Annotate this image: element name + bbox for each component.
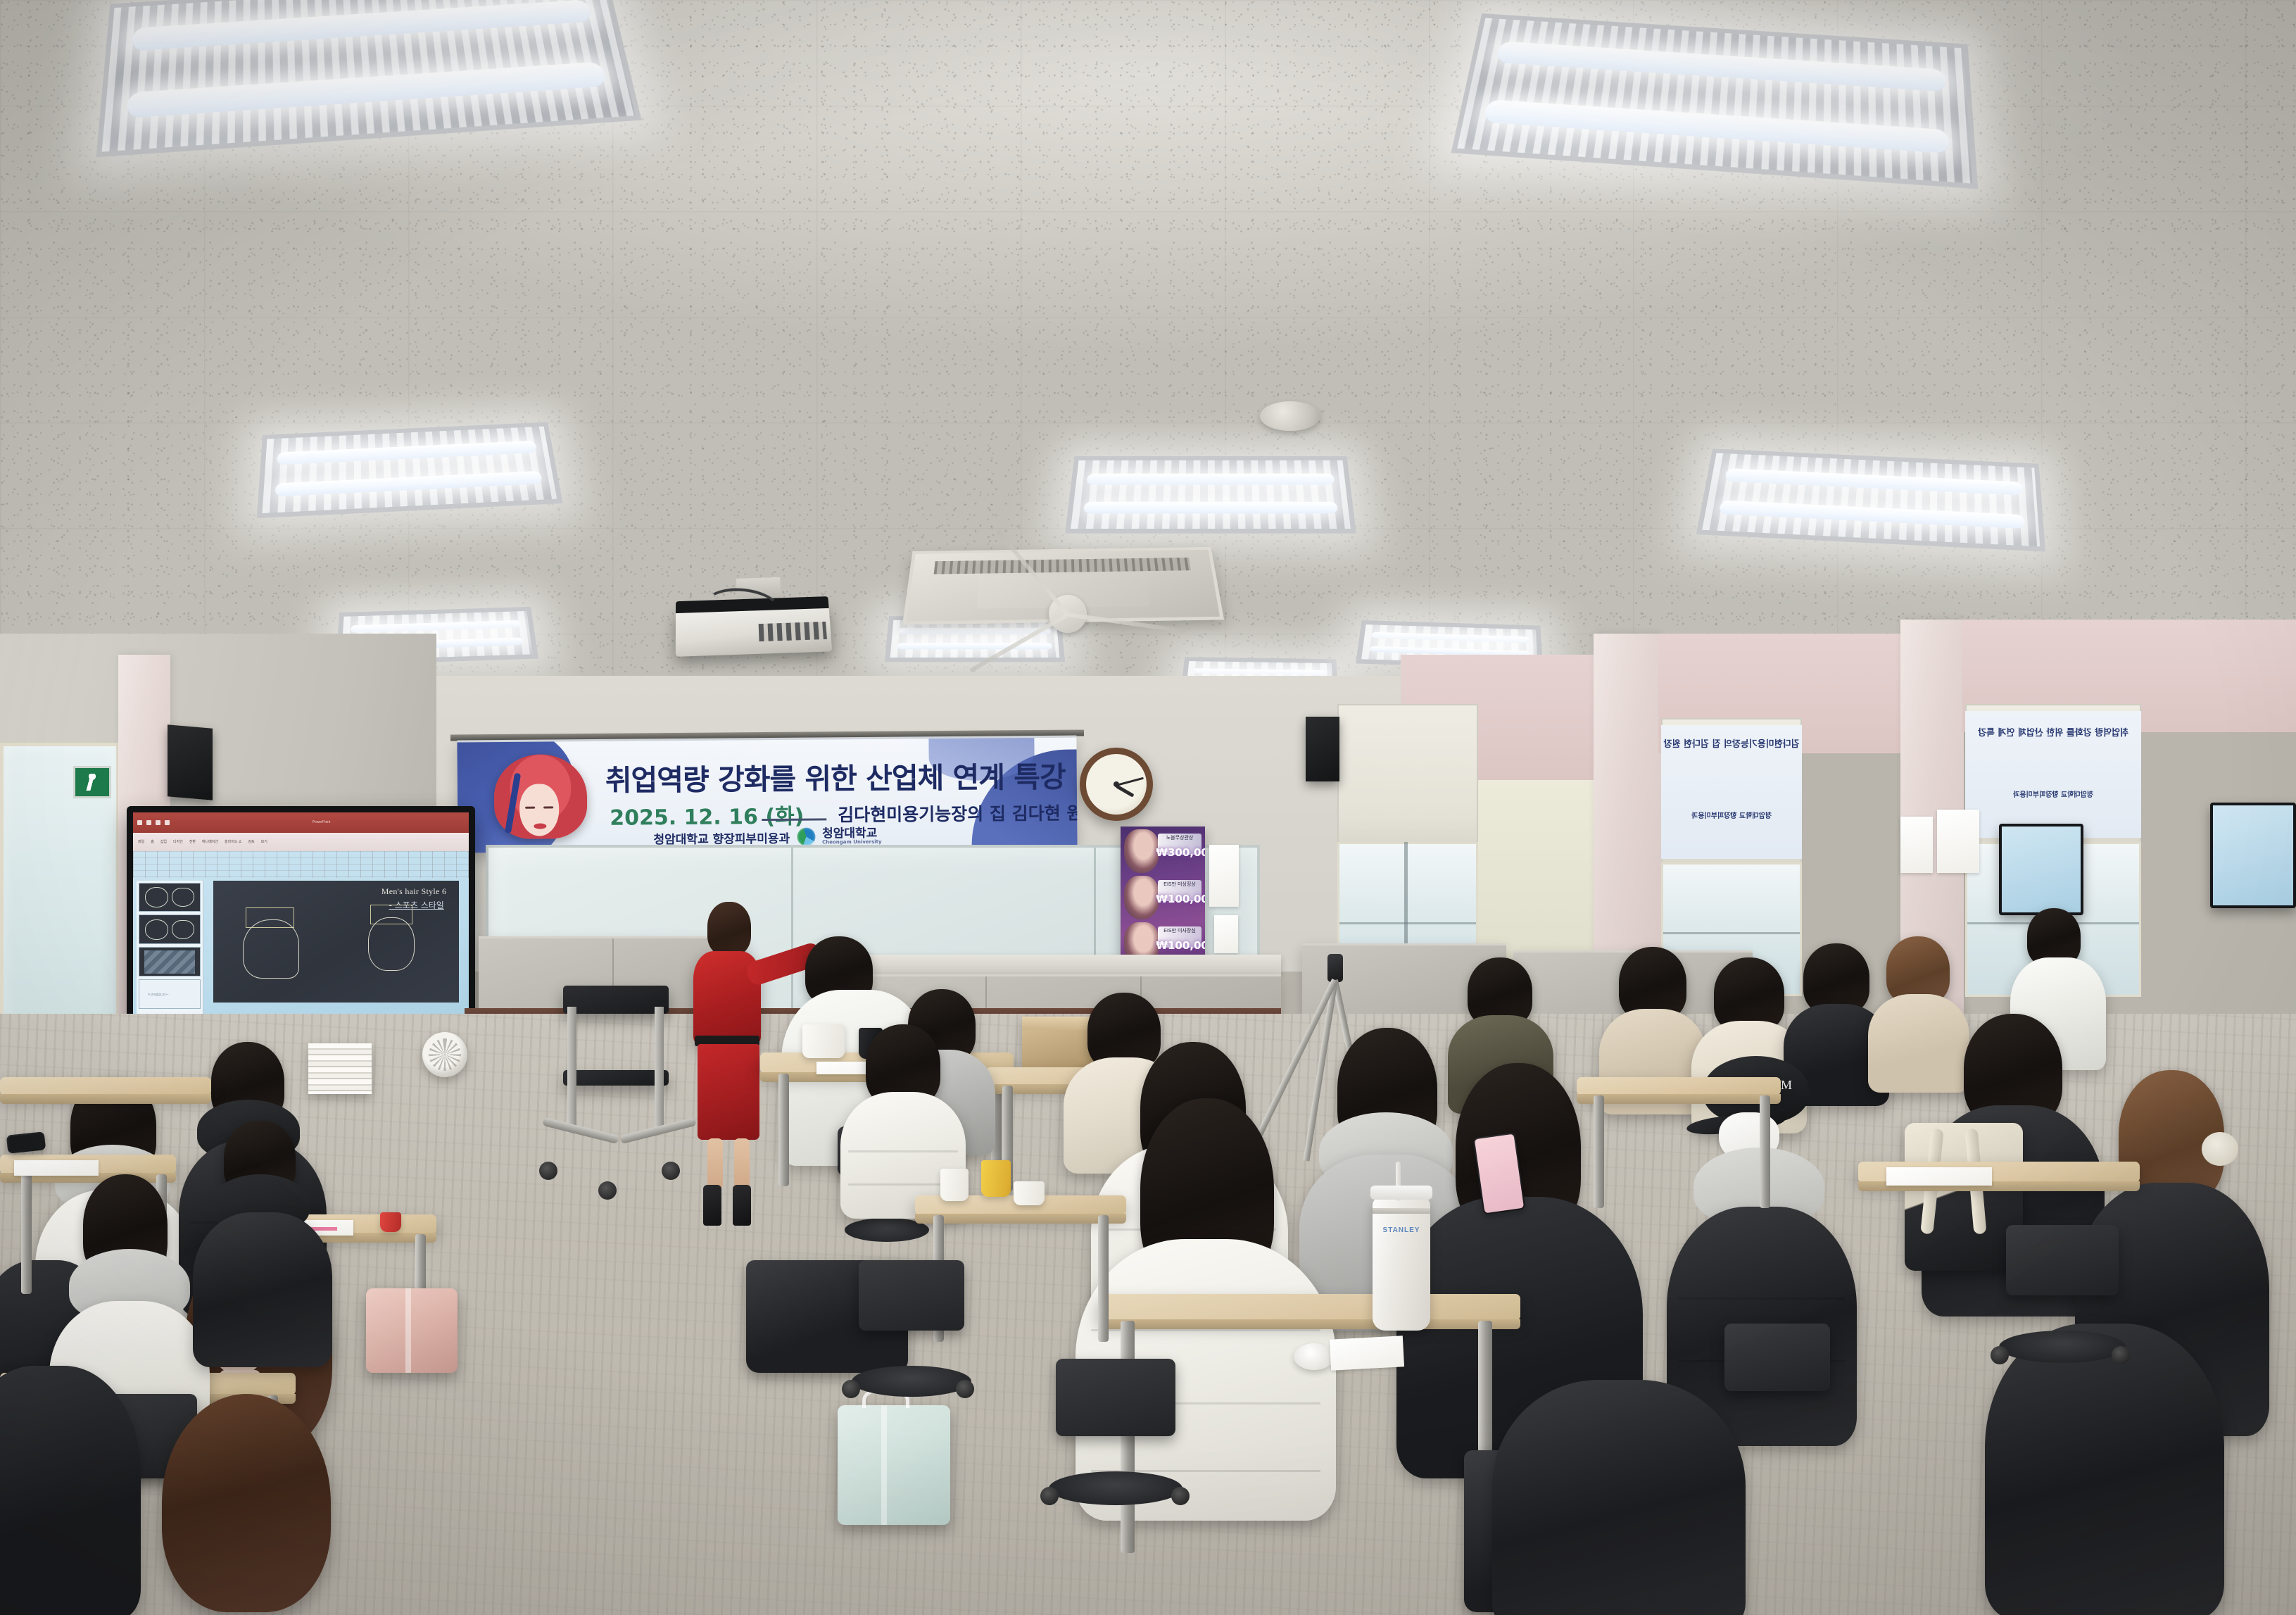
save-icon[interactable] [137, 820, 142, 825]
trolley-caster [539, 1162, 557, 1180]
trolley-caster [662, 1162, 680, 1180]
clock-hour-hand [1116, 784, 1135, 797]
trolley-post-left [567, 1007, 576, 1133]
illustration-eye-right [543, 806, 553, 808]
tumbler-ring [1373, 1208, 1430, 1214]
display-screen[interactable]: PowerPoint 파일 홈 삽입 디자인 전환 애니메이션 슬라이드 쇼 검… [127, 806, 475, 1045]
student-hair [1803, 943, 1869, 1014]
slideshow-icon[interactable] [165, 820, 170, 825]
phone-screen [1475, 1134, 1524, 1214]
mid-right-desk [1577, 1077, 1781, 1095]
student-chair-3[interactable] [2006, 1225, 2119, 1295]
monitor-screen [2002, 827, 2081, 912]
slide-thumbnail[interactable] [139, 947, 201, 976]
mannequin-hair [162, 1394, 331, 1612]
ceiling-speaker [1260, 401, 1320, 431]
louver-grid [1071, 460, 1351, 529]
box-flap [1022, 1017, 1095, 1030]
handout-sheet [14, 1160, 99, 1176]
monitor-screen [2213, 805, 2293, 905]
wall-notice-center-2 [1214, 915, 1238, 953]
louver-grid [890, 620, 1060, 658]
puffer-seam [1678, 1297, 1846, 1300]
cap-logo: M [1781, 1078, 1792, 1093]
instructor-boot-left [703, 1185, 721, 1226]
right-monitor-1 [1999, 824, 2083, 915]
powerpoint-document-title: PowerPoint [174, 820, 469, 824]
active-slide[interactable]: Men's hair Style 6 - 스포츠 스타일 [213, 881, 458, 1003]
desk-leg [21, 1174, 32, 1294]
right-monitor-2 [2210, 803, 2296, 908]
clock-center-dot [1114, 781, 1119, 787]
student-chair-1[interactable] [859, 1260, 964, 1331]
airpods-case [1294, 1343, 1335, 1370]
reflected-banner-title: 김다현미용기능장의 집 김다현 원장 [1661, 736, 1802, 750]
exit-sign [73, 766, 111, 798]
redo-icon[interactable] [156, 820, 160, 825]
ribbon-tab-home[interactable]: 홈 [151, 839, 154, 844]
thumb-head-profile [145, 887, 168, 907]
university-name-kr: 청암대학교 [822, 828, 882, 841]
reflected-banner-org-2: 청암대학교 향장피부미용과 [1965, 788, 2141, 799]
red-cup [380, 1212, 401, 1232]
tumbler-lid [1370, 1186, 1432, 1200]
thumb-head-front [172, 888, 194, 907]
desk-edge [1098, 1319, 1520, 1329]
tool-bucket [802, 1024, 845, 1058]
wall-notice-1 [1937, 810, 1979, 873]
fluorescent-tube [1083, 502, 1337, 514]
ceiling-light-5 [1696, 448, 2045, 551]
chair-caster [842, 1380, 860, 1398]
instructor-leg-left [707, 1138, 723, 1189]
student-body [0, 1366, 141, 1615]
desk-fan[interactable] [422, 1032, 467, 1077]
banner-title: 취업역량 강화를 위한 산업체 연계 특강 [605, 753, 1056, 799]
puffer-seam [848, 1150, 959, 1152]
banner-reflection-right: 김다현미용기능장의 집 김다현 원장 청암대학교 향장피부미용과 [1661, 725, 1802, 859]
ceiling-light-4 [1065, 456, 1356, 534]
chair-base [1049, 1471, 1182, 1505]
thumb-closing-text: 수고하셨습니다^^ [148, 993, 169, 997]
instructor-boot-right [733, 1185, 751, 1226]
instructor [693, 891, 771, 1228]
tripod-head [1327, 954, 1343, 982]
tumbler-brand-label: STANLEY [1373, 1226, 1430, 1234]
chair-caster [1040, 1487, 1059, 1505]
university-name-block: 청암대학교 Cheongam University [822, 828, 882, 846]
tool-trolley [563, 986, 669, 1014]
wall-notice-center [1209, 845, 1239, 907]
fluorescent-tube [1087, 473, 1335, 484]
front-center-desk [1098, 1294, 1520, 1321]
poster-row-price-3: ₩100,000 [1156, 939, 1201, 952]
slide-title: Men's hair Style 6 [381, 886, 447, 897]
ribbon-tab-transition[interactable]: 전환 [189, 839, 196, 844]
ribbon-tab-insert[interactable]: 삽입 [160, 839, 167, 844]
backpack-on-chair [1905, 1123, 2023, 1271]
banner-divider-rule [762, 818, 826, 821]
slide-thumbnail-panel[interactable]: 수고하셨습니다^^ [137, 881, 203, 1019]
trolley-post-right [655, 1007, 664, 1133]
louver-grid [263, 427, 557, 513]
slide-thumbnail-last[interactable]: 수고하셨습니다^^ [139, 979, 201, 1009]
chair-caster [2112, 1346, 2130, 1364]
slide-head-profile-diagram [243, 919, 299, 978]
stacked-books [308, 1043, 372, 1094]
cardboard-box [1022, 1017, 1095, 1069]
wall-speaker-left [168, 724, 213, 800]
desk-leg [1594, 1095, 1604, 1208]
ribbon-tab-slideshow[interactable]: 슬라이드 쇼 [225, 839, 241, 844]
front-desk-paper [1330, 1336, 1404, 1370]
reflected-banner-org: 청암대학교 향장피부미용과 [1661, 810, 1802, 820]
pink-carry-case [366, 1288, 458, 1373]
ribbon-tab-view[interactable]: 보기 [261, 839, 267, 844]
event-banner: 취업역량 강화를 위한 산업체 연계 특강 2025. 12. 16 (화) 김… [457, 736, 1077, 853]
student-body [193, 1212, 332, 1367]
student-chair-2[interactable] [1056, 1359, 1175, 1436]
banner-department-label: 청암대학교 향장피부미용과 [653, 828, 790, 847]
slide-head-front-diagram [368, 917, 415, 972]
wall-notice-2 [1900, 817, 1933, 873]
instructor-red-skirt [698, 1044, 759, 1140]
thumb-head-front [172, 920, 194, 939]
ribbon-tab-review[interactable]: 검토 [248, 839, 254, 844]
exit-running-man-icon [85, 774, 99, 791]
instructor-head [707, 902, 751, 955]
student-body [1492, 1380, 1746, 1615]
chair-caster [1991, 1346, 2009, 1364]
banner-date: 2025. 12. 16 (화) [610, 799, 804, 831]
powerpoint-toolbar[interactable] [133, 851, 469, 879]
powerpoint-titlebar: PowerPoint [133, 812, 469, 833]
chair-base [1999, 1331, 2126, 1363]
reflected-banner-title-2: 취업역량 강화를 위한 산업체 연계 특강 [1965, 725, 2141, 739]
banner-reflection-far-right: 취업역량 강화를 위한 산업체 연계 특강 청암대학교 향장피부미용과 [1965, 711, 2141, 838]
paper-cup-2 [940, 1169, 969, 1201]
fluorescent-tube [899, 628, 1051, 634]
undo-icon[interactable] [146, 820, 151, 825]
student-body [1868, 994, 1969, 1093]
tool-trolley-shelf [563, 1070, 669, 1086]
desk-leg [1760, 1095, 1770, 1208]
chair-base [852, 1366, 971, 1397]
powerpoint-window[interactable]: PowerPoint 파일 홈 삽입 디자인 전환 애니메이션 슬라이드 쇼 검… [133, 812, 469, 1039]
poster-row-price-1: ₩300,000 [1156, 846, 1201, 859]
clock-minute-hand [1116, 777, 1144, 786]
case-zipper-seam [405, 1288, 411, 1373]
mint-vanity-case [838, 1405, 950, 1525]
student-body [1985, 1324, 2224, 1615]
trolley-caster [598, 1181, 617, 1200]
desk-leg [1098, 1215, 1109, 1342]
desk-edge [915, 1214, 1126, 1224]
desk-edge [0, 1094, 211, 1104]
powerpoint-ribbon-tabs[interactable]: 파일 홈 삽입 디자인 전환 애니메이션 슬라이드 쇼 검토 보기 [133, 833, 469, 851]
wall-clock [1080, 748, 1153, 821]
poster-model-face [1124, 876, 1159, 919]
ribbon-tab-design[interactable]: 디자인 [173, 839, 183, 844]
paper-cup-3 [1014, 1181, 1045, 1205]
snack-cup [981, 1160, 1011, 1197]
phone-screen [8, 1133, 44, 1152]
thumb-head-profile [145, 919, 168, 940]
slide-thumbnail[interactable] [139, 915, 201, 944]
thumb-photo-grid [144, 950, 196, 974]
poster-row-price-2: ₩100,000 [1156, 893, 1201, 905]
desk-leg [778, 1074, 789, 1186]
poster-model-face [1124, 829, 1159, 873]
chair-caster [1171, 1487, 1190, 1505]
window-blind-1 [1337, 704, 1478, 845]
fluorescent-tube [897, 643, 1052, 649]
ceiling-light-3 [257, 422, 563, 519]
louver-grid [1702, 453, 2040, 547]
instructor-leg-right [734, 1138, 750, 1189]
hair-scrunchie [2202, 1132, 2238, 1166]
desk-leg [1121, 1321, 1135, 1553]
case-zipper-seam [881, 1405, 887, 1525]
banner-speaker: 김다현미용기능장의 집 김다현 원장 [838, 799, 1078, 827]
chair-caster [956, 1380, 974, 1398]
front-right-paper [1886, 1167, 1992, 1186]
ac-vent-louver [934, 558, 1191, 574]
stanley-tumbler: STANLEY [1373, 1197, 1430, 1331]
desk-edge [1577, 1094, 1781, 1104]
price-poster: 노블무상관상 ₩300,000 EIS만 미싱징상 ₩100,000 EIS만 … [1121, 827, 1205, 967]
slide-thumbnail[interactable] [139, 883, 201, 912]
student-chair-5[interactable] [1724, 1324, 1830, 1391]
cheongam-university-logo-icon [797, 827, 815, 846]
illustration-eye-left [525, 807, 535, 809]
wall-speaker-right [1306, 717, 1339, 781]
front-left-desk-2 [0, 1077, 211, 1095]
classroom-photo: 김다현미용기능장의 집 김다현 원장 청암대학교 향장피부미용과 취업역량 강화… [0, 0, 2296, 1615]
ribbon-tab-file[interactable]: 파일 [138, 839, 144, 844]
ribbon-tab-animation[interactable]: 애니메이션 [202, 839, 218, 844]
